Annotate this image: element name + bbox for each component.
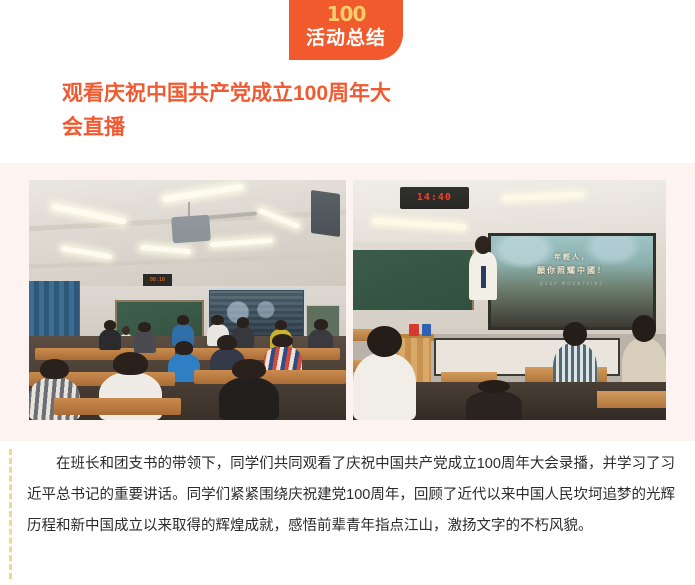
projector [171,215,211,244]
dashed-rail-decoration [9,449,12,579]
led-clock-time: 14:40 [417,192,452,203]
wall-clock: 08:10 [143,274,172,286]
photo-right-scene: 14:40 年輕人， 願你照耀中國！ DEEP MOUNTAINS [353,180,666,420]
cup-blue [422,324,431,336]
necktie [481,266,486,288]
projection-screen: 年輕人， 願你照耀中國！ DEEP MOUNTAINS [488,233,657,330]
activity-summary-badge: 100 活动总结 [289,0,403,60]
chalkboard [353,250,474,310]
wall-clock-time: 08:10 [150,277,165,283]
title-row: 100 观看庆祝中国共产党成立100周年大会直播 [0,66,695,163]
photo-band: 08:10 [0,163,695,441]
photo-classroom-left: 08:10 [29,180,346,420]
student [353,353,416,420]
desk-row [54,398,181,415]
projection-caption-line1: 年輕人， [491,252,654,262]
photo-left-scene: 08:10 [29,180,346,420]
student [99,329,121,351]
body-zone: 在班长和团支书的带领下，同学们共同观看了庆祝中国共产党成立100周年大会录播，并… [0,441,695,585]
wall-speaker [311,190,340,237]
projection-caption-line2: 願你照耀中國！ [491,265,654,276]
summary-paragraph: 在班长和团支书的带领下，同学们共同观看了庆祝中国共产党成立100周年大会录播，并… [27,449,675,542]
photo-classroom-right: 14:40 年輕人， 願你照耀中國！ DEEP MOUNTAINS [353,180,666,420]
student [134,331,156,353]
led-clock: 14:40 [400,187,469,209]
cup-red [409,324,418,336]
badge-label: 活动总结 [306,26,386,51]
projection-caption-line3: DEEP MOUNTAINS [491,281,654,286]
page-title: 观看庆祝中国共产党成立100周年大会直播 [62,77,392,145]
student [466,391,522,420]
desk-row [597,391,666,408]
header-zone: 100 活动总结 [0,0,695,66]
student [219,377,279,420]
badge-number-100: 100 [327,5,366,24]
